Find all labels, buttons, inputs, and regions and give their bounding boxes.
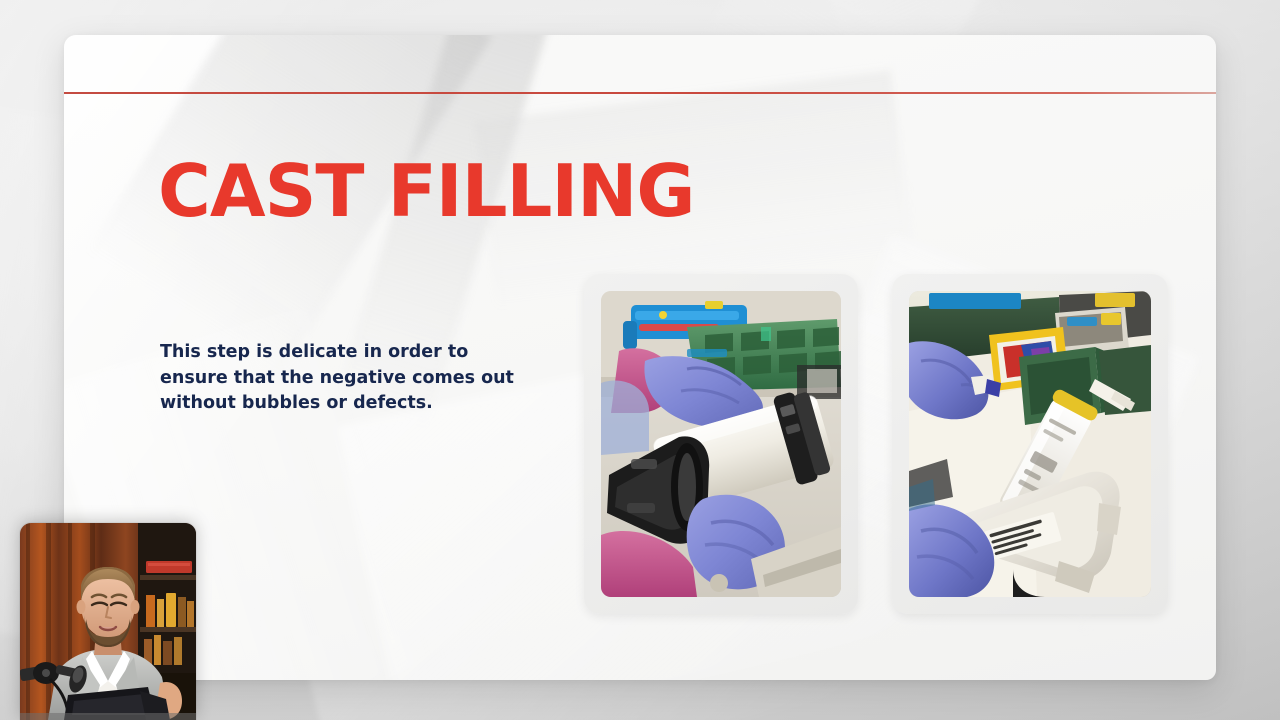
presenter-webcam-overlay[interactable]	[20, 523, 196, 720]
screen: CAST FILLING This step is delicate in or…	[0, 0, 1280, 720]
header-divider-rule	[64, 92, 1216, 94]
cast-filling-photo-1	[601, 291, 841, 597]
slide-body-text: This step is delicate in order to ensure…	[160, 340, 520, 417]
cast-filling-photo-2	[909, 291, 1151, 597]
photo-card-right	[892, 274, 1168, 614]
photo-card-left	[584, 274, 858, 614]
presentation-slide: CAST FILLING This step is delicate in or…	[64, 35, 1216, 680]
slide-title: CAST FILLING	[158, 155, 694, 227]
